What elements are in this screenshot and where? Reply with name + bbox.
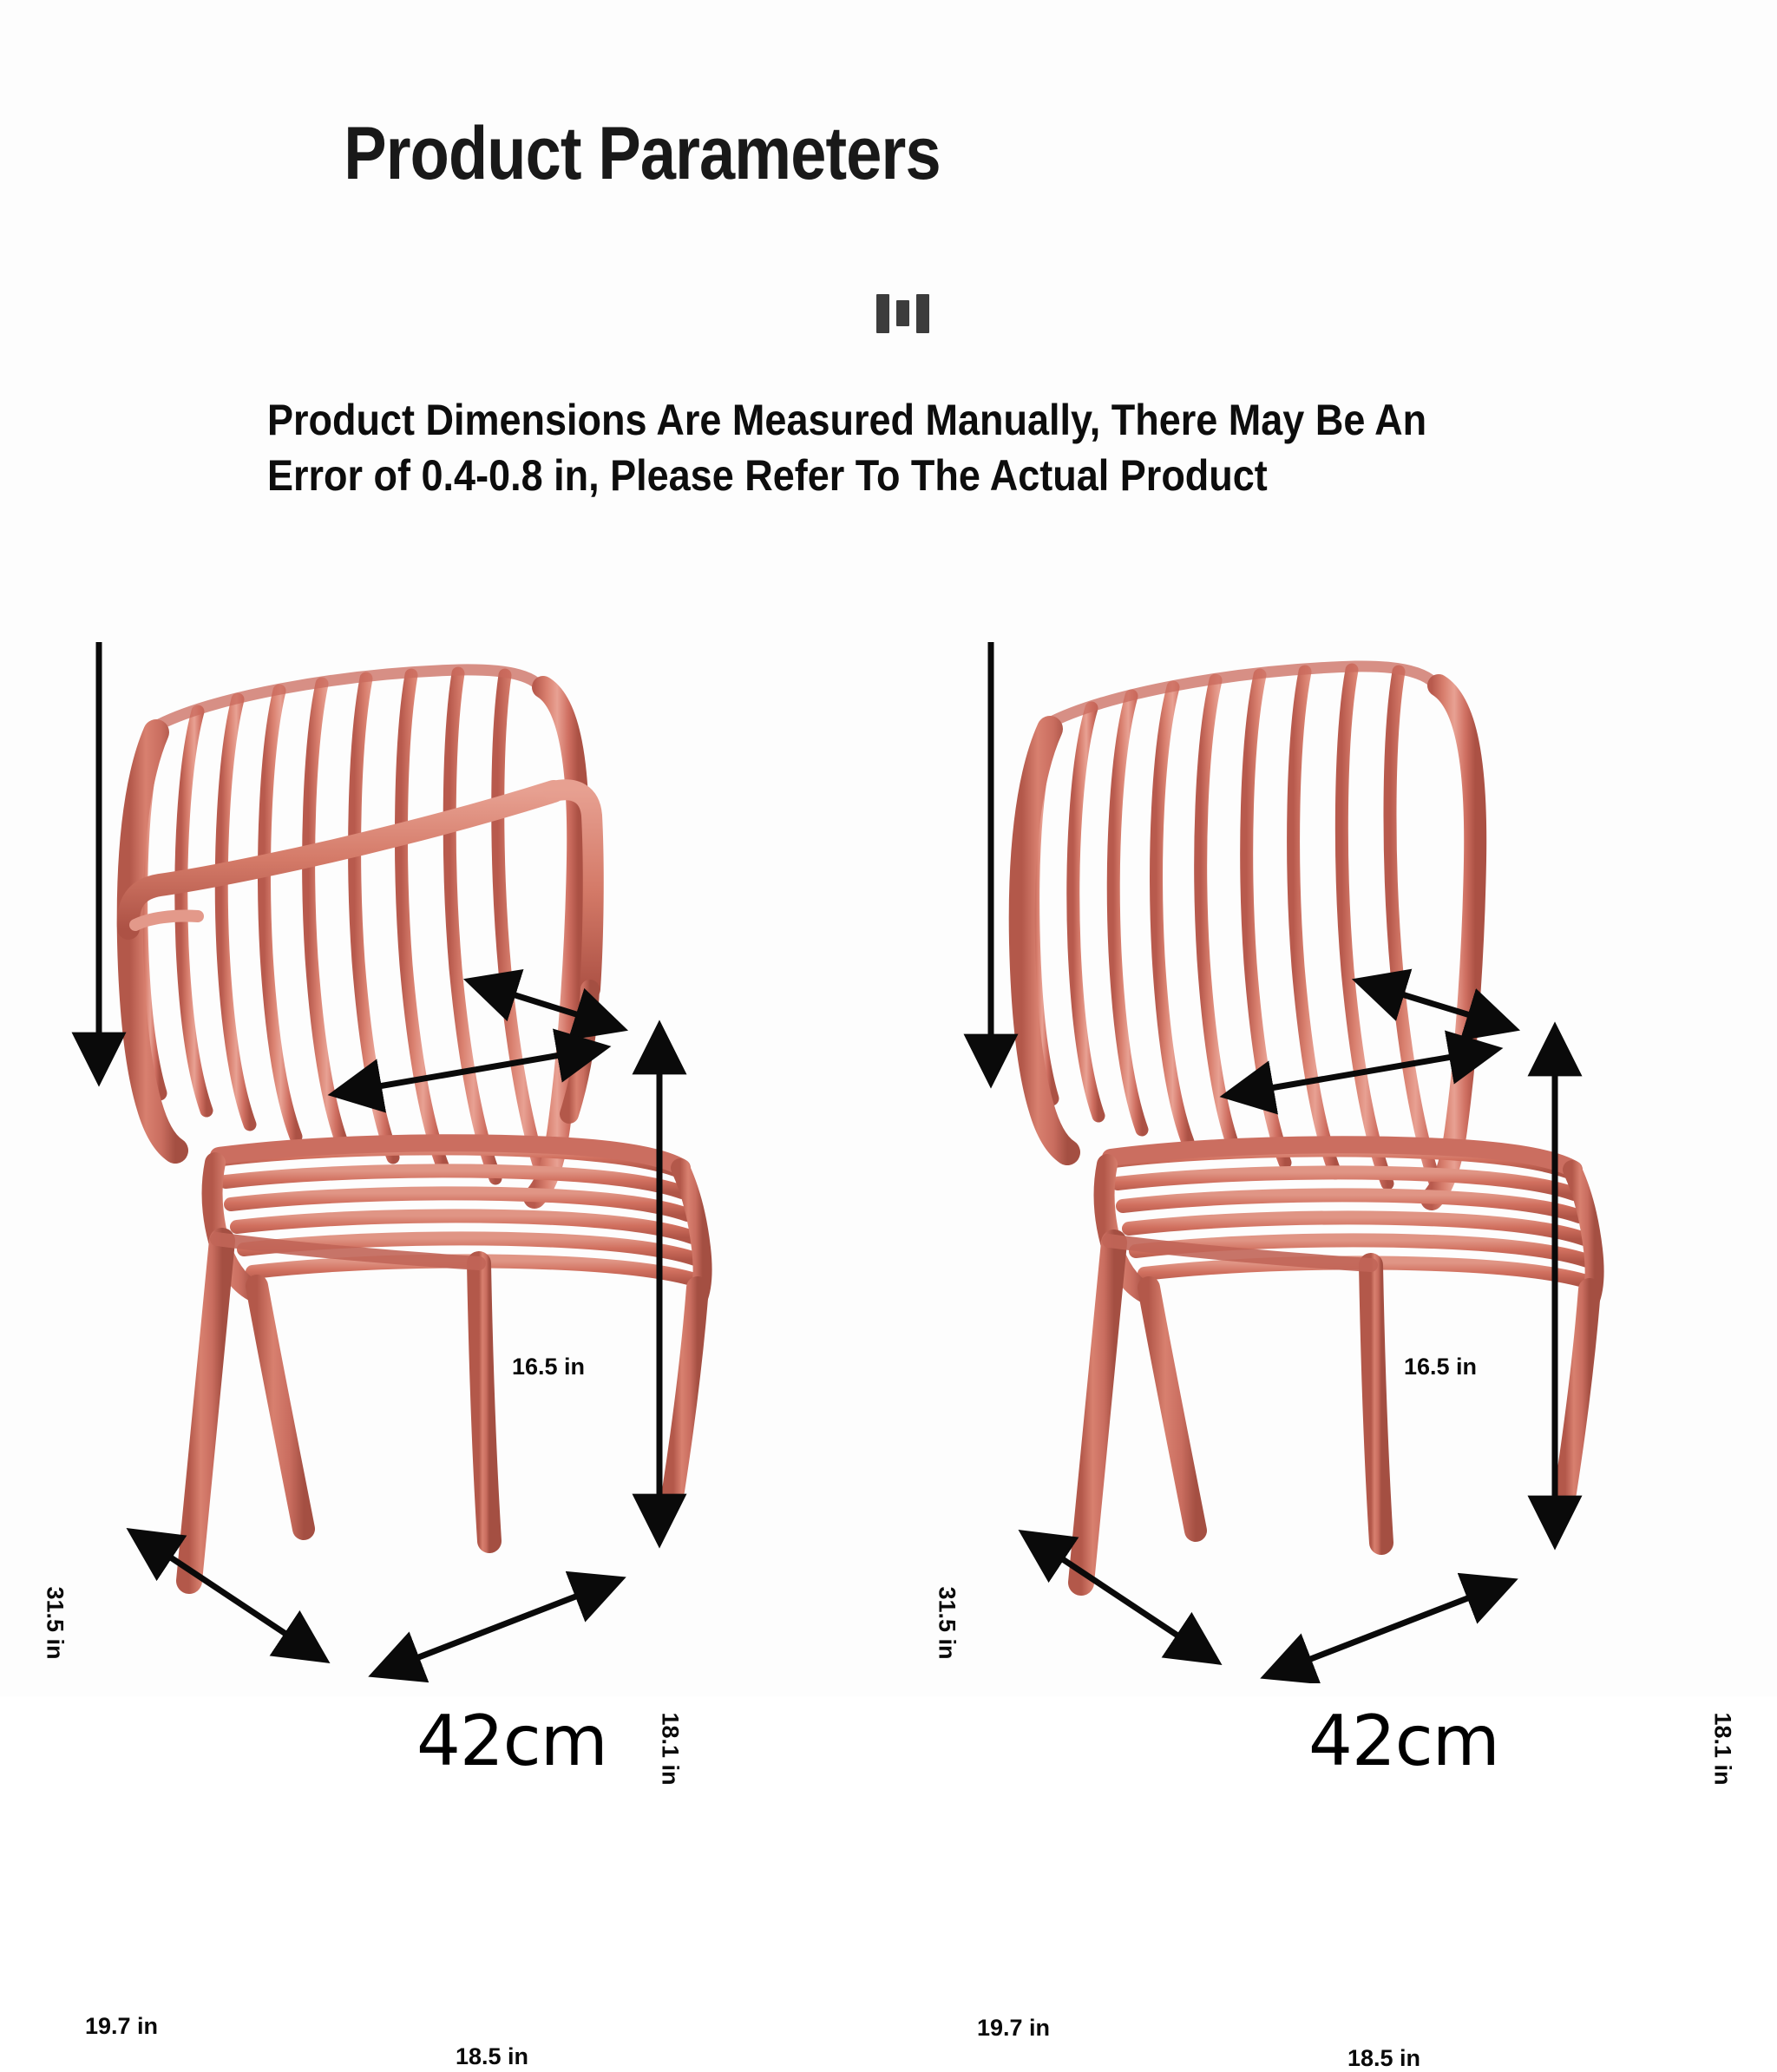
front-width-arrow [1270, 1583, 1508, 1675]
side-depth-arrow [135, 1534, 321, 1657]
divider-bar-left [876, 294, 889, 333]
divider-bar-middle [896, 300, 909, 326]
label-seat-height: 18.1 in [657, 1697, 684, 1801]
label-front-width: 18.5 in [456, 2043, 528, 2070]
side-chair-dimension-arrows [937, 642, 1777, 1683]
side-depth-arrow [1027, 1536, 1213, 1659]
label-height: 31.5 in [934, 1571, 961, 1675]
page-title: Product Parameters [90, 111, 1195, 197]
divider-bar-right [916, 294, 929, 333]
label-seat-width: 42cm [416, 1701, 607, 1781]
depth-arrow [474, 982, 618, 1027]
label-depth: 16.5 in [1404, 1354, 1477, 1380]
product-figure-armchair: 31.5 in 16.5 in 42cm 18.1 in 19.7 in 18.… [52, 642, 920, 1683]
label-side-depth: 19.7 in [85, 2013, 158, 2040]
armchair-dimension-arrows [52, 642, 920, 1683]
label-height: 31.5 in [42, 1571, 69, 1675]
front-width-arrow [378, 1581, 616, 1673]
product-figure-side-chair: 31.5 in 16.5 in 42cm 18.1 in 19.7 in 18.… [937, 642, 1777, 1683]
label-depth: 16.5 in [512, 1354, 585, 1380]
label-seat-height: 18.1 in [1709, 1697, 1736, 1801]
seat-width-arrow [1230, 1050, 1492, 1095]
three-bars-icon [850, 288, 954, 338]
depth-arrow [1362, 982, 1510, 1027]
label-side-depth: 19.7 in [977, 2015, 1050, 2042]
label-seat-width: 42cm [1308, 1701, 1499, 1781]
disclaimer-text: Product Dimensions Are Measured Manually… [267, 392, 1454, 503]
label-front-width: 18.5 in [1348, 2045, 1420, 2072]
seat-width-arrow [338, 1048, 600, 1093]
